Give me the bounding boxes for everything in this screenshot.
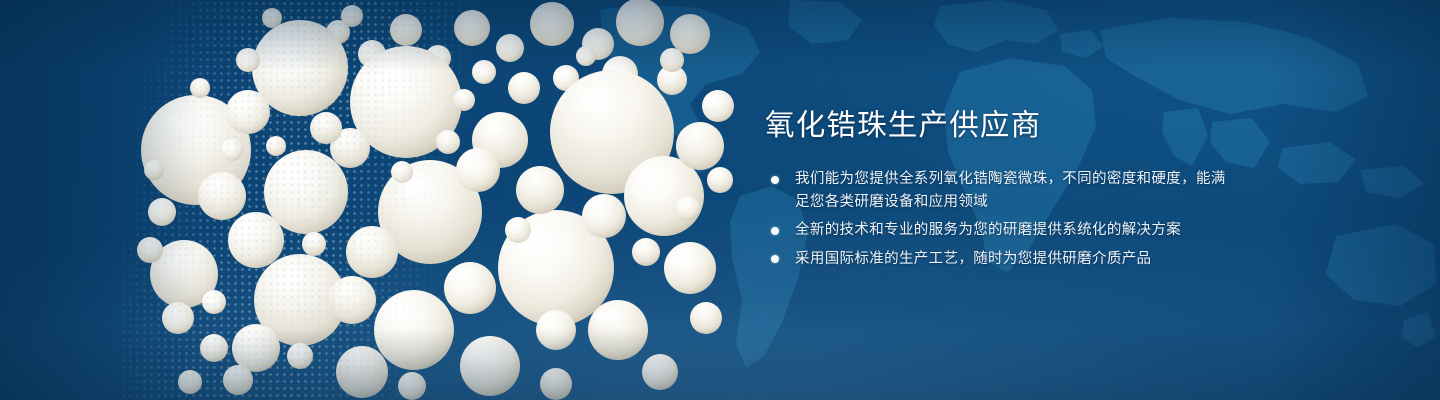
list-item-label: 全新的技术和专业的服务为您的研磨提供系统化的解决方案 bbox=[795, 219, 1235, 242]
list-item-label: 我们能为您提供全系列氧化锆陶瓷微珠，不同的密度和硬度，能满足您各类研磨设备和应用… bbox=[795, 168, 1235, 213]
bullet-dot-icon bbox=[771, 227, 779, 235]
bullet-dot-icon bbox=[771, 176, 779, 184]
list-item-label: 采用国际标准的生产工艺，随时为您提供研磨介质产品 bbox=[795, 248, 1235, 271]
banner-headline: 氧化锆珠生产供应商 bbox=[765, 108, 1041, 143]
bullet-dot-icon bbox=[771, 255, 779, 263]
list-item: 全新的技术和专业的服务为您的研磨提供系统化的解决方案 bbox=[765, 219, 1235, 242]
list-item: 我们能为您提供全系列氧化锆陶瓷微珠，不同的密度和硬度，能满足您各类研磨设备和应用… bbox=[765, 168, 1235, 213]
list-item: 采用国际标准的生产工艺，随时为您提供研磨介质产品 bbox=[765, 248, 1235, 271]
banner-content: 氧化锆珠生产供应商 我们能为您提供全系列氧化锆陶瓷微珠，不同的密度和硬度，能满足… bbox=[763, 0, 1323, 400]
hero-banner: 氧化锆珠生产供应商 我们能为您提供全系列氧化锆陶瓷微珠，不同的密度和硬度，能满足… bbox=[0, 0, 1440, 400]
zirconia-beads-image bbox=[0, 0, 760, 400]
banner-feature-list: 我们能为您提供全系列氧化锆陶瓷微珠，不同的密度和硬度，能满足您各类研磨设备和应用… bbox=[765, 168, 1235, 270]
